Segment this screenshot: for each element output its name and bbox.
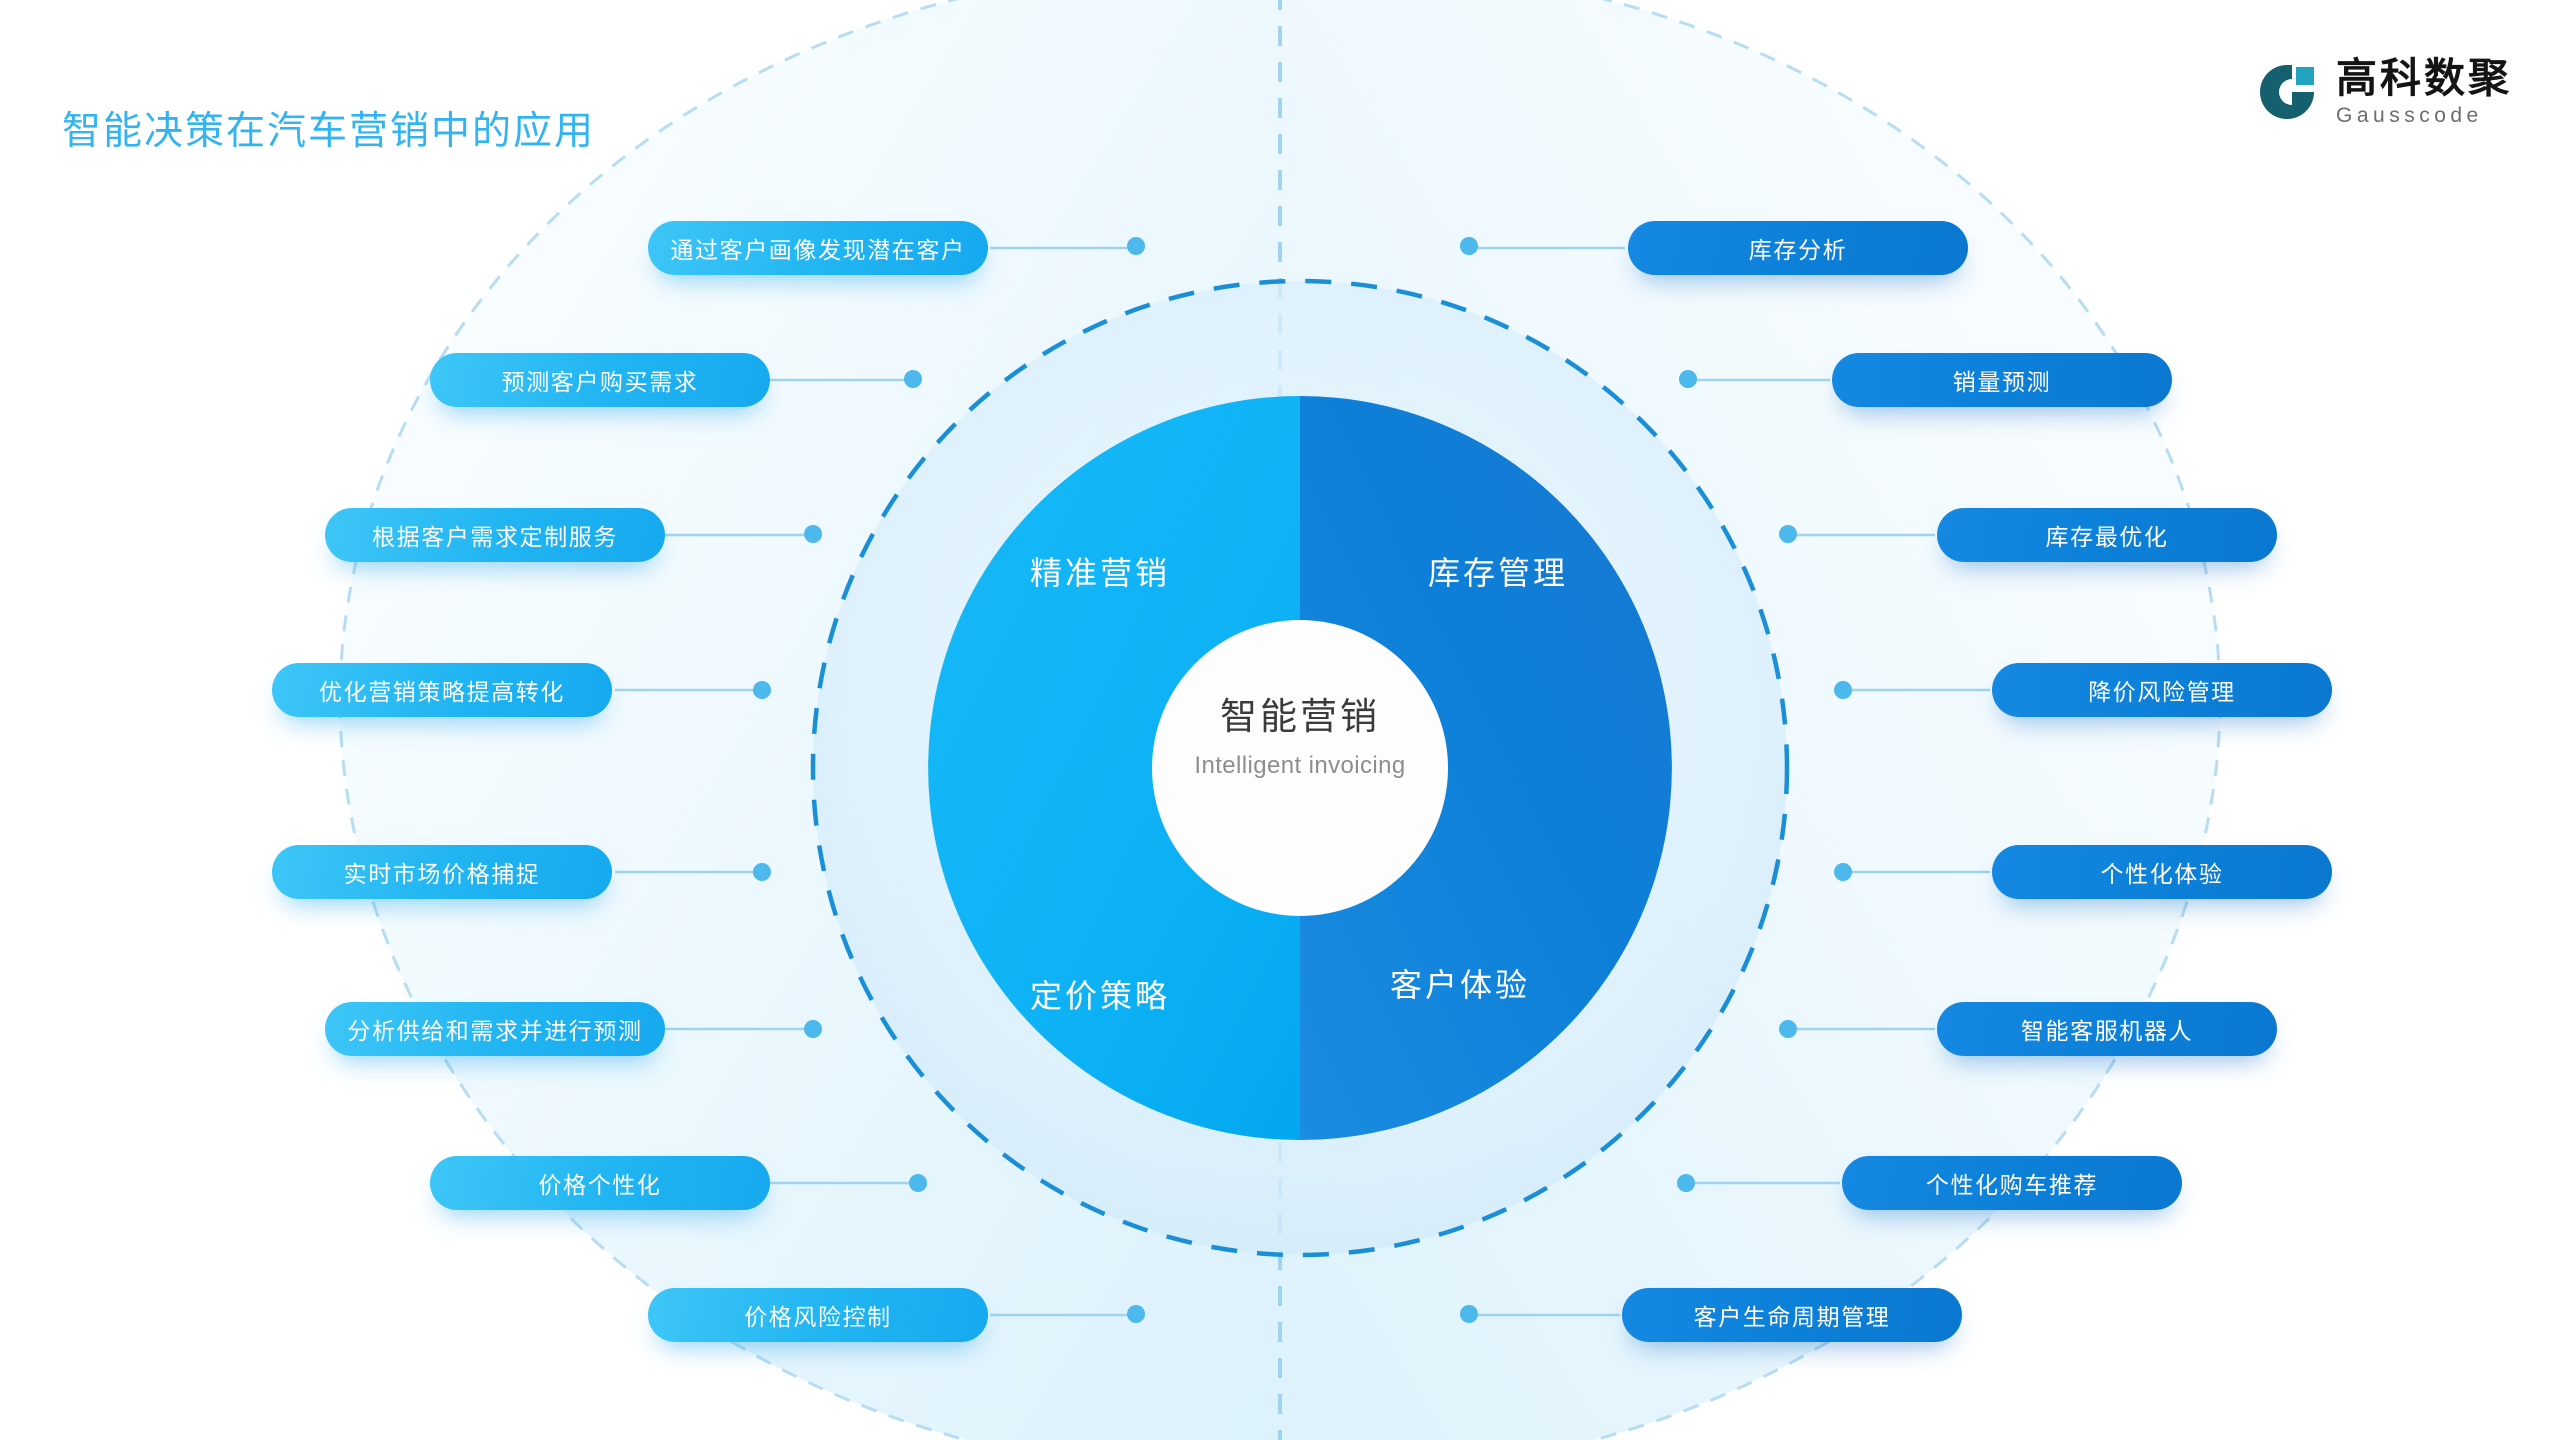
- pill-label: 分析供给和需求并进行预测: [347, 1012, 642, 1046]
- list-item-right-2[interactable]: 销量预测: [1832, 353, 2172, 407]
- quadrant-label-inventory-management: 库存管理: [1428, 548, 1568, 594]
- pill-label: 个性化购车推荐: [1926, 1166, 2098, 1200]
- pill-label: 客户生命周期管理: [1694, 1298, 1891, 1332]
- quadrant-label-pricing-strategy: 定价策略: [1030, 971, 1170, 1017]
- pill-label: 通过客户画像发现潜在客户: [670, 231, 965, 265]
- pill-label: 智能客服机器人: [2021, 1012, 2193, 1046]
- list-item-left-5[interactable]: 实时市场价格捕捉: [272, 845, 612, 899]
- pill-label: 销量预测: [1953, 363, 2051, 397]
- pill-label: 实时市场价格捕捉: [344, 855, 541, 889]
- brand-logo: 高科数聚 Gausscode: [2256, 58, 2512, 126]
- list-item-right-7[interactable]: 个性化购车推荐: [1842, 1156, 2182, 1210]
- center-hub: [1152, 620, 1448, 916]
- logo-name-en: Gausscode: [2336, 105, 2512, 126]
- pill-label: 个性化体验: [2101, 855, 2224, 889]
- pill-label: 优化营销策略提高转化: [319, 673, 565, 707]
- list-item-left-2[interactable]: 预测客户购买需求: [430, 353, 770, 407]
- list-item-left-6[interactable]: 分析供给和需求并进行预测: [325, 1002, 665, 1056]
- marketing-wheel-diagram: [0, 0, 2560, 1440]
- gausscode-g-logo-icon: [2256, 61, 2318, 123]
- pill-label: 降价风险管理: [2088, 673, 2236, 707]
- pill-label: 库存分析: [1749, 231, 1847, 265]
- pill-label: 预测客户购买需求: [502, 363, 699, 397]
- page-title: 智能决策在汽车营销中的应用: [62, 100, 595, 156]
- logo-name-cn: 高科数聚: [2336, 58, 2512, 99]
- pill-label: 价格个性化: [539, 1166, 662, 1200]
- pill-label: 库存最优化: [2046, 518, 2169, 552]
- list-item-right-8[interactable]: 客户生命周期管理: [1622, 1288, 1962, 1342]
- pill-label: 价格风险控制: [744, 1298, 892, 1332]
- quadrant-label-precision-marketing: 精准营销: [1030, 548, 1170, 594]
- list-item-left-4[interactable]: 优化营销策略提高转化: [272, 663, 612, 717]
- pill-label: 根据客户需求定制服务: [372, 518, 618, 552]
- quadrant-label-customer-experience: 客户体验: [1390, 960, 1530, 1006]
- list-item-right-1[interactable]: 库存分析: [1628, 221, 1968, 275]
- list-item-right-5[interactable]: 个性化体验: [1992, 845, 2332, 899]
- list-item-left-8[interactable]: 价格风险控制: [648, 1288, 988, 1342]
- list-item-right-4[interactable]: 降价风险管理: [1992, 663, 2332, 717]
- list-item-left-1[interactable]: 通过客户画像发现潜在客户: [648, 221, 988, 275]
- list-item-right-3[interactable]: 库存最优化: [1937, 508, 2277, 562]
- list-item-right-6[interactable]: 智能客服机器人: [1937, 1002, 2277, 1056]
- list-item-left-7[interactable]: 价格个性化: [430, 1156, 770, 1210]
- list-item-left-3[interactable]: 根据客户需求定制服务: [325, 508, 665, 562]
